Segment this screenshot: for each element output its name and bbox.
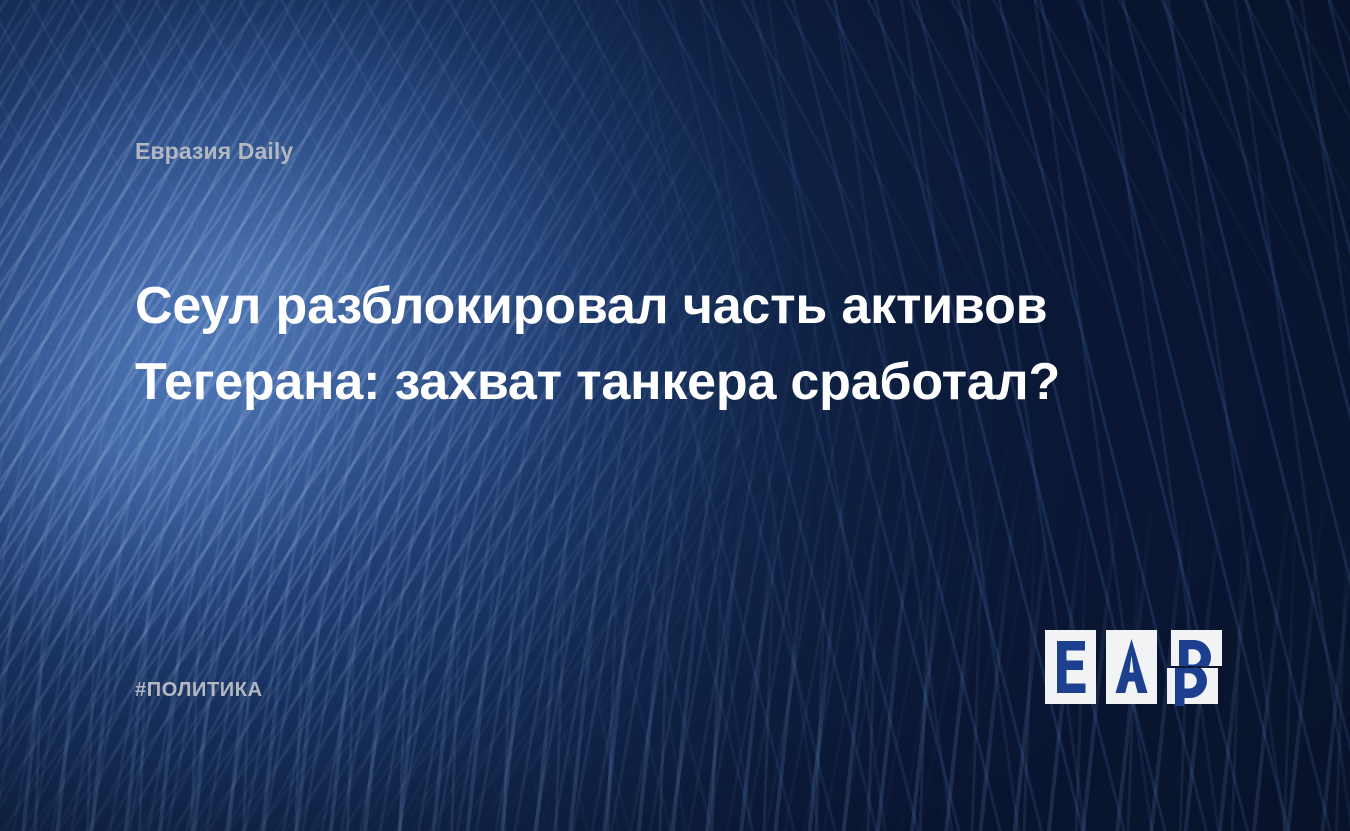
ead-logo-tile-a xyxy=(1106,630,1157,704)
page-title: Сеул разблокировал часть активов Тегеран… xyxy=(135,268,1145,420)
headline-line-2: Тегерана: захват танкера сработал? xyxy=(135,344,1145,420)
headline-line-1: Сеул разблокировал часть активов xyxy=(135,268,1145,344)
share-card: Евразия Daily Сеул разблокировал часть а… xyxy=(0,0,1350,831)
ead-logo-tile-d xyxy=(1167,630,1222,706)
brand-wordmark: Евразия Daily xyxy=(135,138,293,165)
ead-logo-tile-e xyxy=(1045,630,1096,704)
ead-letter-e xyxy=(1057,641,1086,693)
card-content: Евразия Daily Сеул разблокировал часть а… xyxy=(0,0,1350,831)
ead-logo-svg xyxy=(1045,627,1225,707)
category-hashtag[interactable]: #ПОЛИТИКА xyxy=(135,679,263,702)
ead-logo xyxy=(1045,627,1225,707)
